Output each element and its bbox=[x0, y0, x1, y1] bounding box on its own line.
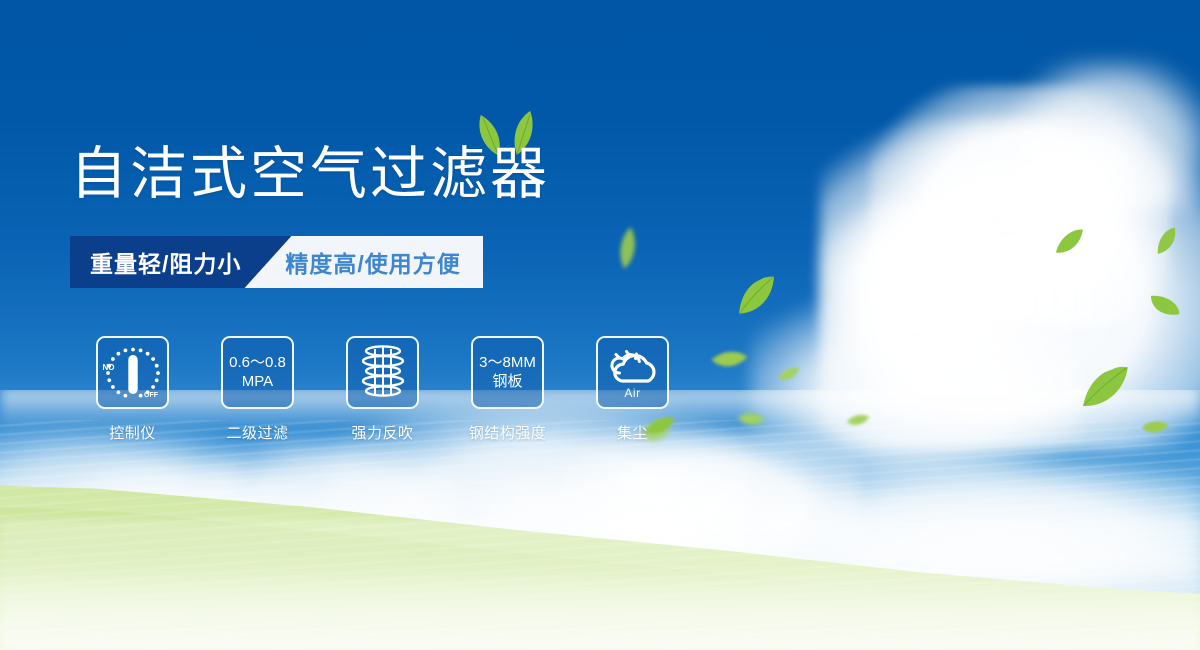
pressure-text-icon: 0.6～0.8 MPA bbox=[229, 354, 286, 391]
air-label: Air bbox=[598, 386, 667, 400]
grass-foreground-band bbox=[0, 520, 1200, 650]
steel-line-1: 3～8MM bbox=[479, 354, 536, 371]
tagline-badge: 重量轻/阻力小 精度高/使用方便 bbox=[70, 236, 483, 288]
feature-icon-box: Air bbox=[596, 336, 669, 409]
feature-label: 控制仪 bbox=[109, 422, 156, 443]
page-title: 自洁式空气过滤器 bbox=[70, 143, 550, 207]
feature-item-backblow[interactable]: 强力反吹 bbox=[320, 336, 445, 443]
gauge-icon: NO OFF bbox=[100, 342, 166, 404]
svg-text:OFF: OFF bbox=[144, 392, 159, 399]
tagline-left: 重量轻/阻力小 bbox=[70, 236, 267, 288]
feature-item-two-stage-filter[interactable]: 0.6～0.8 MPA 二级过滤 bbox=[195, 336, 320, 443]
filter-coil-icon bbox=[357, 344, 409, 402]
pressure-line-2: MPA bbox=[242, 373, 273, 390]
feature-label: 强力反吹 bbox=[351, 422, 413, 443]
steel-plate-text-icon: 3～8MM 钢板 bbox=[479, 354, 536, 391]
svg-text:NO: NO bbox=[102, 363, 114, 372]
pressure-line-1: 0.6～0.8 bbox=[229, 354, 286, 371]
feature-icon-box bbox=[346, 336, 419, 409]
feature-label: 集尘 bbox=[617, 422, 648, 443]
feature-item-dust-collection[interactable]: Air 集尘 bbox=[570, 336, 695, 443]
feature-icon-box: NO OFF bbox=[96, 336, 169, 409]
product-banner: 自洁式空气过滤器 重量轻/阻力小 精度高/使用方便 bbox=[0, 0, 1200, 650]
feature-list: NO OFF 控制仪 0.6～0.8 MPA 二级过滤 bbox=[70, 336, 695, 443]
feature-icon-box: 0.6～0.8 MPA bbox=[221, 336, 294, 409]
feature-item-steel-strength[interactable]: 3～8MM 钢板 钢结构强度 bbox=[445, 336, 570, 443]
tagline-right: 精度高/使用方便 bbox=[273, 236, 482, 288]
feature-label: 钢结构强度 bbox=[469, 422, 547, 443]
feature-label: 二级过滤 bbox=[226, 422, 288, 443]
feature-item-controller[interactable]: NO OFF 控制仪 bbox=[70, 336, 195, 443]
steel-line-2: 钢板 bbox=[492, 373, 522, 390]
feature-icon-box: 3～8MM 钢板 bbox=[471, 336, 544, 409]
